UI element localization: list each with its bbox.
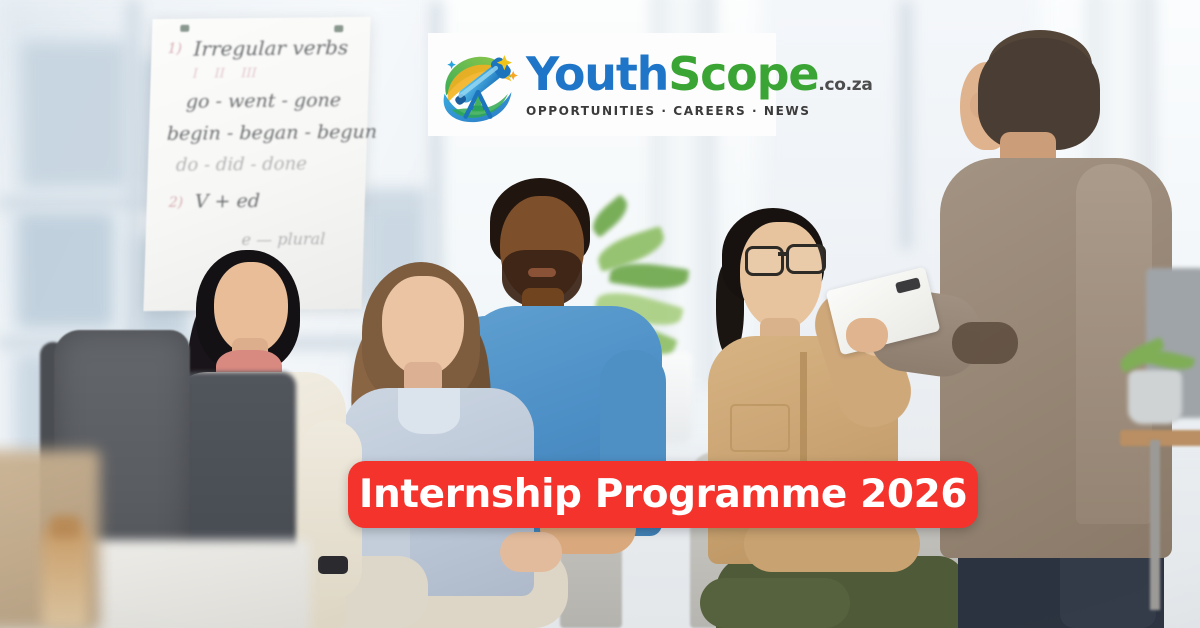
eyeglasses-lens — [786, 244, 826, 274]
whiteboard-line-1: Irregular verbs — [193, 35, 348, 61]
building-block — [16, 210, 116, 330]
banner-image: 1) Irregular verbs I II III go - went - … — [0, 0, 1200, 628]
presenter-elbow-patch — [952, 322, 1018, 364]
whiteboard-clip — [334, 25, 343, 32]
eyeglasses-bridge — [778, 252, 788, 256]
wordmark-youth: Youth — [526, 47, 668, 101]
person-tan-shirt-face — [740, 222, 822, 330]
building-block — [20, 40, 130, 190]
window-mullion — [900, 0, 912, 250]
whiteboard-marker-2: 2) — [169, 195, 184, 211]
presenter-hand — [846, 318, 888, 352]
brand-wordmark: YouthScope.co.za — [526, 51, 873, 97]
desk-leg — [1150, 440, 1160, 610]
desk — [1120, 430, 1200, 446]
person-tan-shirt-pocket — [730, 404, 790, 452]
whiteboard-clip — [180, 25, 189, 32]
whiteboard-marks: I II III — [193, 66, 257, 82]
wristwatch — [318, 556, 348, 574]
whiteboard-line-3: begin - began - begun — [167, 121, 378, 145]
title-banner: Internship Programme 2026 — [348, 461, 978, 528]
brand-wordmark-block: YouthScope.co.za OPPORTUNITIES · CAREERS… — [526, 51, 873, 118]
whiteboard-line-5: V + ed — [194, 190, 260, 213]
brand-logo: YouthScope.co.za OPPORTUNITIES · CAREERS… — [428, 33, 776, 136]
person-blue-top-hands — [500, 532, 562, 572]
whiteboard-marker-1: 1) — [167, 41, 182, 57]
title-banner-text: Internship Programme 2026 — [359, 472, 967, 517]
plant-pot-secondary — [1128, 370, 1182, 424]
wordmark-tld: .co.za — [818, 75, 872, 95]
eyeglasses-lens — [745, 246, 784, 276]
brand-tagline: OPPORTUNITIES · CAREERS · NEWS — [526, 104, 873, 118]
person-tan-shirt-trousers — [700, 578, 850, 628]
telescope-swirl-logo-icon — [434, 41, 522, 129]
person-blue-sweater-mouth — [528, 268, 556, 277]
whiteboard-line-6: e — plural — [241, 229, 325, 249]
person-blue-top-face — [382, 276, 464, 376]
whiteboard-line-2: go - went - gone — [186, 89, 342, 113]
wordmark-scope: Scope — [668, 47, 818, 101]
person-blue-top-collar — [398, 388, 460, 434]
foreground-bottle — [42, 524, 88, 628]
whiteboard-line-4: do - did - done — [176, 153, 308, 175]
presenter-blazer-lapel — [1076, 164, 1152, 524]
foreground-bottle-cap — [50, 516, 80, 538]
